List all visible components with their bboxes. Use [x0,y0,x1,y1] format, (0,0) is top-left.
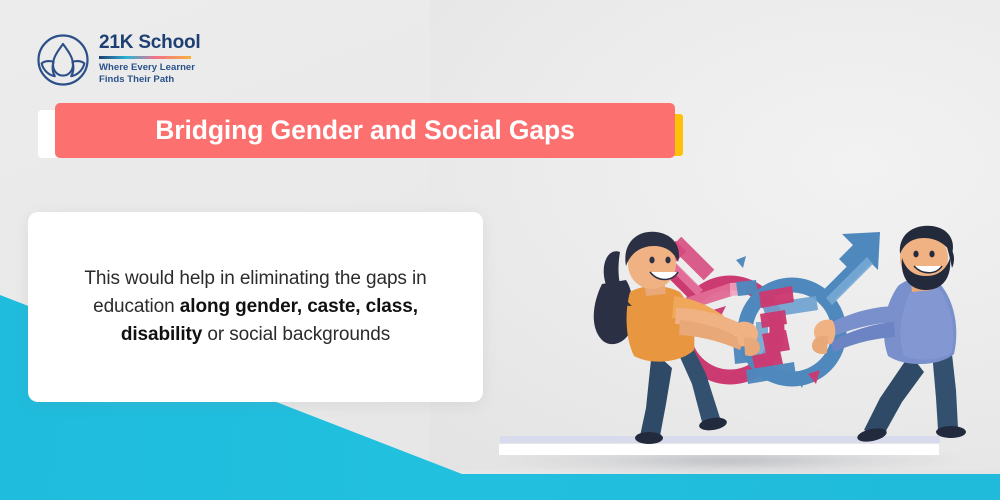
body-card-text: This would help in eliminating the gaps … [61,265,451,348]
brand-logo[interactable]: 21K School Where Every Learner Finds The… [36,33,200,87]
man-figure [812,226,966,444]
lotus-circle-icon [36,33,90,87]
banner-graphic: 21K School Where Every Learner Finds The… [0,0,1000,500]
platform-shadow [495,452,965,476]
brand-tagline: Where Every Learner Finds Their Path [99,62,200,87]
brand-name: 21K School [99,33,200,53]
body-card: This would help in eliminating the gaps … [28,212,483,402]
woman-figure [594,232,760,444]
brand-text-block: 21K School Where Every Learner Finds The… [99,33,200,87]
headline-banner: Bridging Gender and Social Gaps [55,103,675,158]
brand-gradient-rule [99,56,191,59]
headline-title: Bridging Gender and Social Gaps [155,115,575,146]
illustration-gender-equality [580,222,980,452]
